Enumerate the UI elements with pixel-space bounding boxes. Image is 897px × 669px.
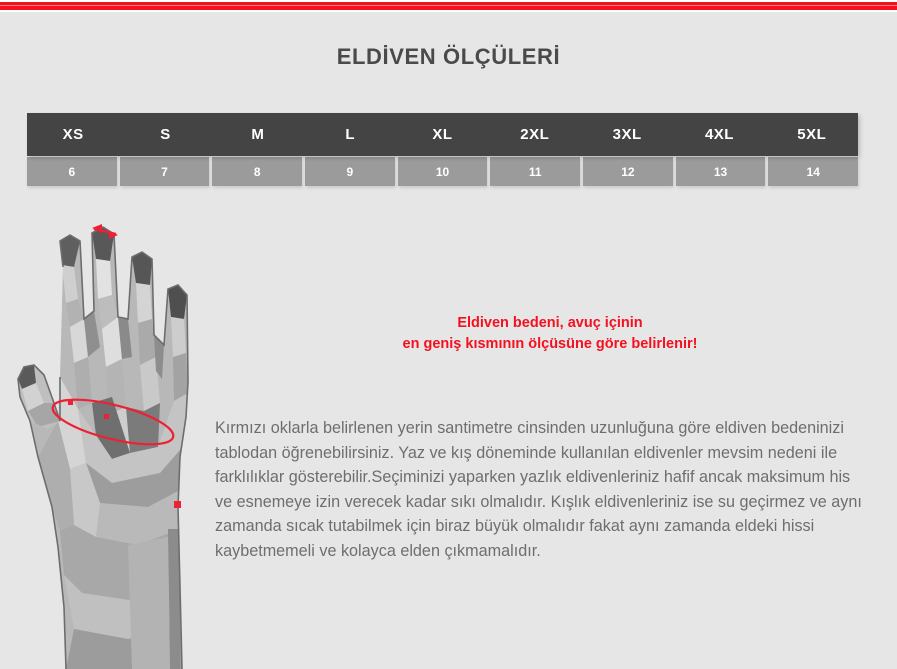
size-header-cell: 4XL xyxy=(673,113,765,156)
size-value-cell: 9 xyxy=(305,157,395,186)
size-header-cell: S xyxy=(119,113,211,156)
size-value-cell: 7 xyxy=(120,157,210,186)
size-value-cell: 6 xyxy=(27,157,117,186)
top-accent-rule xyxy=(0,0,897,12)
size-table-header-row: XS S M L XL 2XL 3XL 4XL 5XL xyxy=(27,113,858,156)
size-header-cell: M xyxy=(212,113,304,156)
size-value-cell: 13 xyxy=(676,157,766,186)
size-value-cell: 10 xyxy=(398,157,488,186)
size-value-cell: 11 xyxy=(490,157,580,186)
size-header-cell: L xyxy=(304,113,396,156)
size-header-cell: 2XL xyxy=(489,113,581,156)
red-accent-bar xyxy=(0,2,897,10)
description-paragraph: Kırmızı oklarla belirlenen yerin santime… xyxy=(215,416,865,563)
callout-line-2: en geniş kısmının ölçüsüne göre belirlen… xyxy=(250,334,850,355)
size-table-value-row: 6 7 8 9 10 11 12 13 14 xyxy=(27,156,858,186)
hand-illustration xyxy=(8,207,223,669)
size-value-cell: 14 xyxy=(768,157,858,186)
size-header-cell: 5XL xyxy=(766,113,858,156)
size-value-cell: 8 xyxy=(212,157,302,186)
page-title: ELDİVEN ÖLÇÜLERİ xyxy=(0,44,897,70)
size-header-cell: XS xyxy=(27,113,119,156)
callout-line-1: Eldiven bedeni, avuç içinin xyxy=(250,313,850,334)
size-header-cell: XL xyxy=(396,113,488,156)
red-callout: Eldiven bedeni, avuç içinin en geniş kıs… xyxy=(250,313,850,355)
size-value-cell: 12 xyxy=(583,157,673,186)
glove-size-table: XS S M L XL 2XL 3XL 4XL 5XL 6 7 8 9 10 1… xyxy=(27,113,858,186)
page-canvas: ELDİVEN ÖLÇÜLERİ XS S M L XL 2XL 3XL 4XL… xyxy=(0,12,897,657)
size-header-cell: 3XL xyxy=(581,113,673,156)
